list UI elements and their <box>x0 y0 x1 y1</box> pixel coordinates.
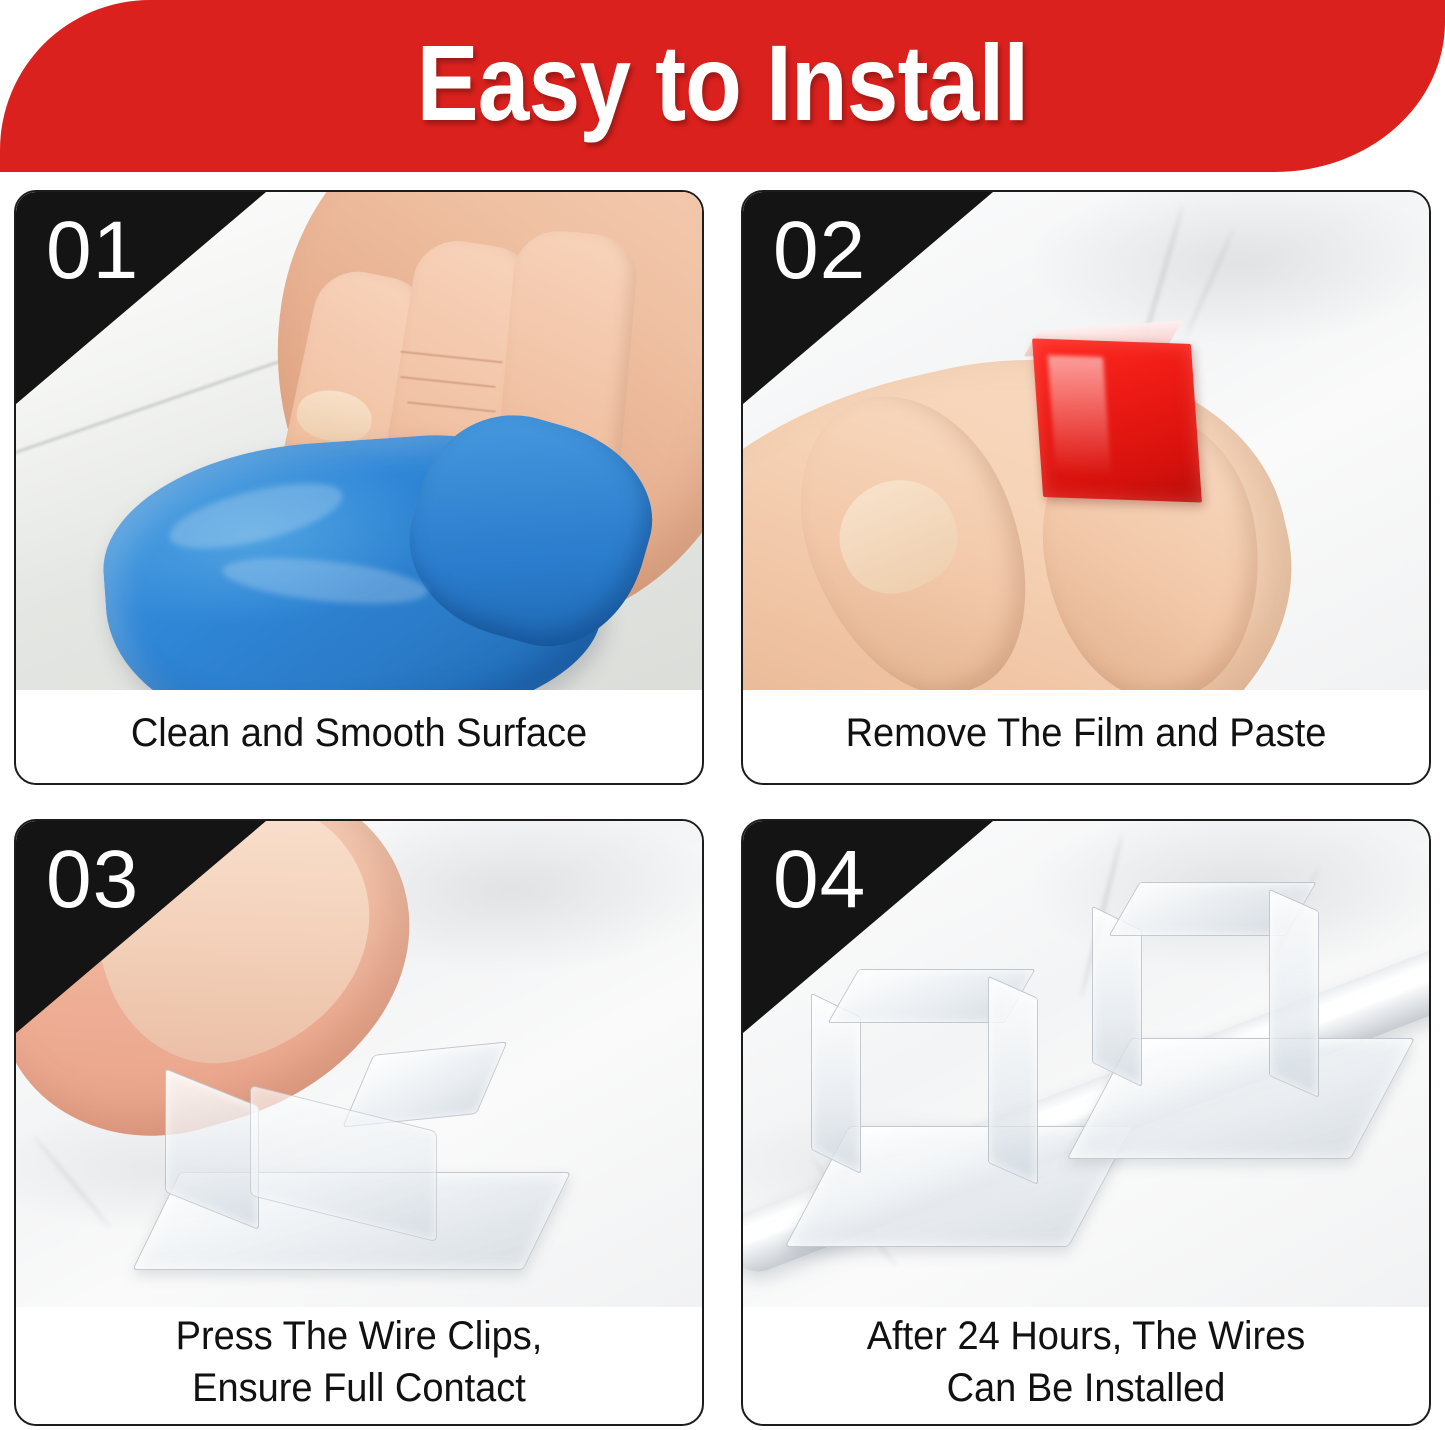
caption-line: Ensure Full Contact <box>176 1363 543 1414</box>
step-card-02: 02 Remove The Film and Paste <box>741 190 1431 785</box>
page-title: Easy to Install <box>101 0 1344 172</box>
caption-line: Clean and Smooth Surface <box>131 708 587 759</box>
caption-line: Can Be Installed <box>867 1363 1306 1414</box>
infographic-page: Easy to Install <box>0 0 1445 1430</box>
step-04-photo: 04 <box>743 821 1429 1307</box>
header-banner: Easy to Install <box>0 0 1445 172</box>
caption-line: Press The Wire Clips, <box>176 1311 543 1362</box>
step-card-03: 03 Press The Wire Clips, Ensure Full Con… <box>14 819 704 1426</box>
clip-highlight <box>1047 356 1110 477</box>
steps-grid: 01 Clean and Smooth Surface <box>14 190 1431 1426</box>
step-01-caption: Clean and Smooth Surface <box>33 690 685 783</box>
caption-line: After 24 Hours, The Wires <box>867 1311 1306 1362</box>
step-card-01: 01 Clean and Smooth Surface <box>14 190 704 785</box>
caption-line: Remove The Film and Paste <box>846 708 1327 759</box>
step-02-caption: Remove The Film and Paste <box>760 690 1412 783</box>
step-card-04: 04 After 24 Hours, The Wires Can Be Inst… <box>741 819 1431 1426</box>
step-03-caption: Press The Wire Clips, Ensure Full Contac… <box>33 1307 685 1424</box>
step-03-photo: 03 <box>16 821 702 1307</box>
step-04-caption: After 24 Hours, The Wires Can Be Install… <box>760 1307 1412 1424</box>
step-01-photo: 01 <box>16 192 702 690</box>
step-02-photo: 02 <box>743 192 1429 690</box>
